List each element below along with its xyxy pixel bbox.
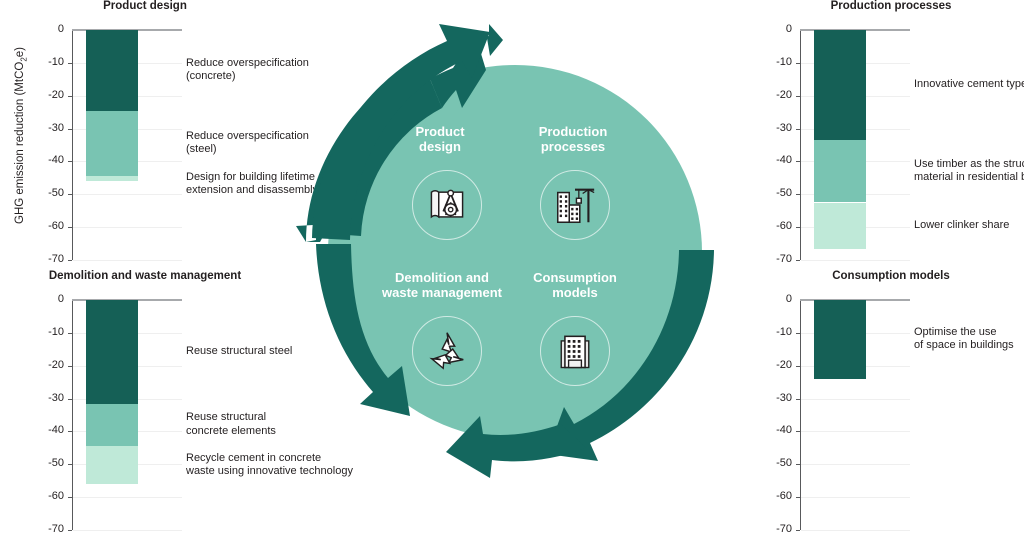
chart-title-consumption-models: Consumption models [758,270,1024,282]
y-axis-tick-label: 0 [26,23,64,35]
tick-mark [68,96,72,97]
y-axis-tick-label: -70 [754,523,792,535]
y-axis-tick-label: -70 [26,523,64,535]
tick-mark [68,399,72,400]
gridline [801,260,910,261]
tick-mark [796,530,800,531]
bar-segment [86,404,138,447]
wheel-arrows [290,12,740,482]
chart-panel-consumption-models: Consumption models0-10-20-30-40-50-60-70… [758,270,1024,540]
y-axis-tick-label: -40 [754,154,792,166]
gridline [73,530,182,531]
segment-label: Use timber as the structural material in… [914,158,1024,185]
y-axis-tick-label: -60 [26,220,64,232]
tick-mark [796,333,800,334]
y-axis-tick-label: -50 [26,457,64,469]
plot-area-consumption-models: 0-10-20-30-40-50-60-70Optimise the use o… [800,300,910,530]
bar-segment [86,111,138,177]
gridline [73,260,182,261]
y-axis-spine [72,30,73,260]
tick-mark [68,161,72,162]
y-axis-tick-label: -10 [754,326,792,338]
bar-segment [814,140,866,202]
plot-area-demolition-and-waste-management: 0-10-20-30-40-50-60-70Reuse structural s… [72,300,182,530]
y-axis-tick-label: -40 [26,154,64,166]
tick-mark [796,161,800,162]
segment-label: Innovative cement types [914,78,1024,91]
y-axis-tick-label: 0 [754,293,792,305]
gridline [801,530,910,531]
bar-segment [814,300,866,379]
y-axis-tick-label: -50 [754,457,792,469]
office-building-icon [553,329,597,373]
y-axis-tick-label: -10 [26,326,64,338]
y-axis-tick-label: -70 [26,253,64,265]
y-axis-tick-label: -40 [754,424,792,436]
tick-mark [796,431,800,432]
tick-mark [68,431,72,432]
gridline [73,497,182,498]
tick-mark [796,194,800,195]
y-axis-tick-label: -20 [26,89,64,101]
y-axis-tick-label: -70 [754,253,792,265]
y-axis-tick-label: -60 [754,490,792,502]
tick-mark [796,464,800,465]
tick-mark [68,194,72,195]
tick-mark [68,227,72,228]
tick-mark [68,129,72,130]
y-axis-tick-label: 0 [754,23,792,35]
stacked-bar-demolition-and-waste-management [86,300,138,484]
icon-ring-demolition-and-waste-management [412,316,482,386]
gridline [73,194,182,195]
icon-ring-consumption-models [540,316,610,386]
y-axis-label: GHG emission reduction (MtCO2e) [14,47,28,224]
y-axis-tick-label: -30 [754,392,792,404]
gridline [801,464,910,465]
gridline [801,431,910,432]
tick-mark [68,464,72,465]
chart-title-product-design: Product design [0,0,290,12]
tick-mark [796,63,800,64]
tick-mark [68,497,72,498]
tick-mark [68,333,72,334]
segment-label: Optimise the use of space in buildings [914,326,1024,353]
y-axis-spine [72,300,73,530]
tick-mark [796,399,800,400]
tick-mark [796,96,800,97]
bar-segment [814,203,866,249]
tick-mark [68,63,72,64]
bar-segment [86,300,138,404]
tick-mark [68,260,72,261]
stacked-bar-product-design [86,30,138,181]
tick-mark [796,366,800,367]
bar-segment [814,30,866,140]
y-axis-tick-label: -30 [26,392,64,404]
y-axis-spine [800,300,801,530]
y-axis-tick-label: -60 [754,220,792,232]
y-axis-tick-label: -20 [26,359,64,371]
y-axis-tick-label: -10 [26,56,64,68]
y-axis-tick-label: -50 [26,187,64,199]
gridline [801,497,910,498]
y-axis-tick-label: 0 [26,293,64,305]
y-axis-spine [800,30,801,260]
y-axis-tick-label: -30 [26,122,64,134]
y-axis-tick-label: -40 [26,424,64,436]
tick-mark [68,530,72,531]
bar-segment [86,446,138,484]
circular-economy-wheel: Product designProduction processesDemoli… [290,12,740,482]
quadrant-title-product-design: Product design [370,124,510,155]
tick-mark [796,129,800,130]
y-axis-tick-label: -30 [754,122,792,134]
buildings-crane-icon [552,182,598,228]
bar-segment [86,176,138,181]
quadrant-title-production-processes: Production processes [498,124,648,155]
chart-title-production-processes: Production processes [758,0,1024,12]
y-axis-tick-label: -50 [754,187,792,199]
chart-title-demolition-and-waste-management: Demolition and waste management [0,270,290,282]
icon-ring-production-processes [540,170,610,240]
tick-mark [796,260,800,261]
chart-panel-production-processes: Production processes0-10-20-30-40-50-60-… [758,0,1024,270]
stacked-bar-production-processes [814,30,866,249]
segment-label: Lower clinker share [914,219,1024,232]
plot-area-product-design: 0-10-20-30-40-50-60-70Reduce overspecifi… [72,30,182,260]
gridline [801,399,910,400]
quadrant-title-consumption-models: Consumption models [500,270,650,301]
y-axis-tick-label: -10 [754,56,792,68]
gridline [73,227,182,228]
y-axis-tick-label: -20 [754,359,792,371]
y-axis-tick-label: -60 [26,490,64,502]
icon-ring-product-design [412,170,482,240]
y-axis-tick-label: -20 [754,89,792,101]
bar-segment [86,30,138,111]
tick-mark [796,497,800,498]
recycle-icon [424,328,470,374]
tick-mark [68,366,72,367]
plot-area-production-processes: 0-10-20-30-40-50-60-70Innovative cement … [800,30,910,260]
tick-mark [796,227,800,228]
blueprint-compass-icon [425,183,469,227]
stacked-bar-consumption-models [814,300,866,379]
